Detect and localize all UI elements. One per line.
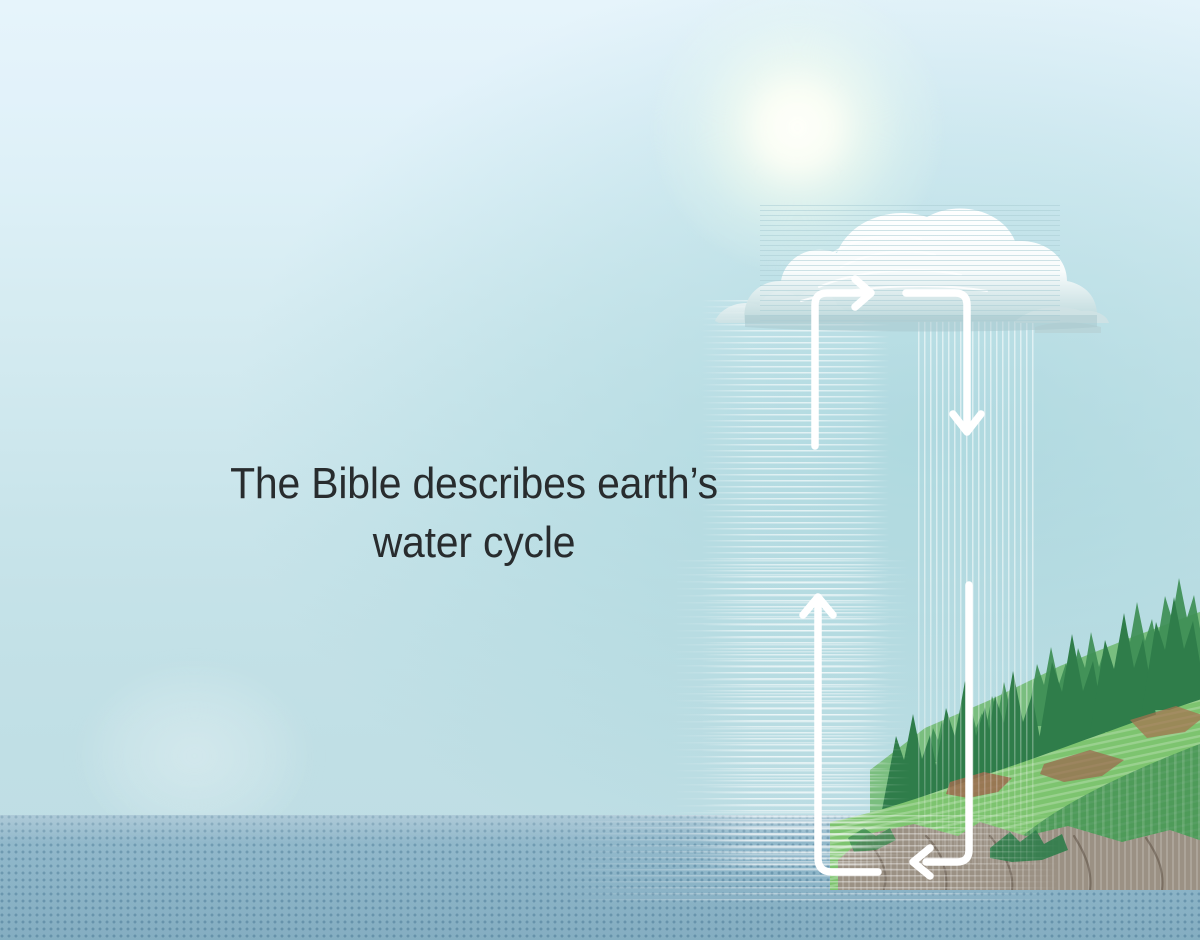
runoff-arrow-path bbox=[926, 585, 969, 862]
precipitation-arrow-path bbox=[906, 293, 967, 425]
evaporation-arrow-lower-path bbox=[818, 600, 878, 872]
evaporation-arrow-upper-path bbox=[815, 293, 866, 446]
slide-canvas: The Bible describes earth’s water cycle bbox=[0, 0, 1200, 940]
page-title: The Bible describes earth’s water cycle bbox=[173, 455, 776, 572]
